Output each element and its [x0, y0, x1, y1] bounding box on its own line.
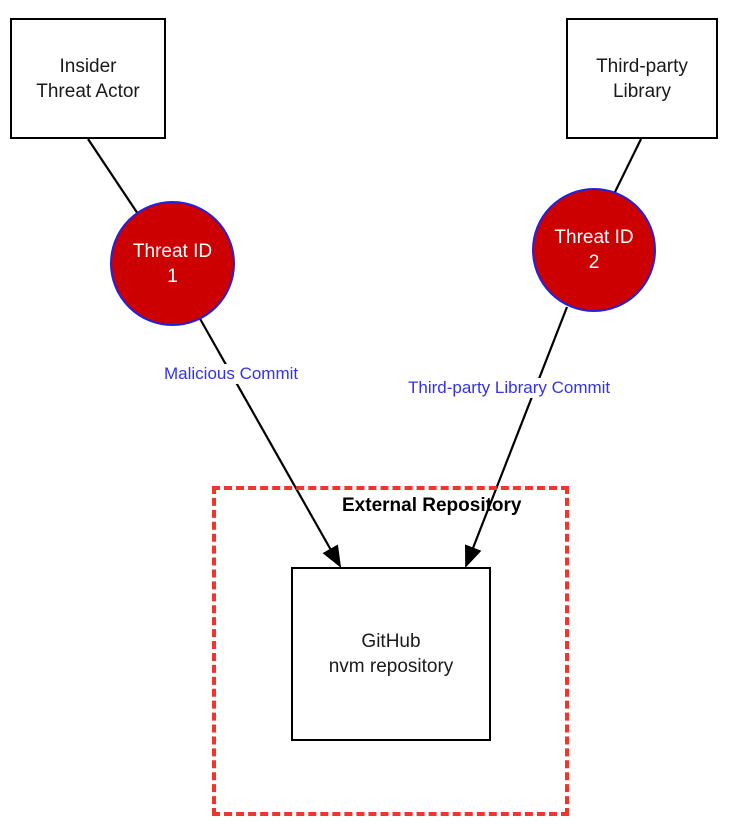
node-threat-id-2-label: Threat ID 2 — [554, 225, 633, 275]
node-insider-threat-actor[interactable]: Insider Threat Actor — [10, 18, 166, 139]
edge-label-third-party-library-commit: Third-party Library Commit — [406, 378, 612, 398]
edge-thirdparty-to-threat2 — [614, 139, 641, 194]
diagram-canvas: External Repository Insider Threat Actor… — [0, 0, 733, 830]
node-github-nvm-repository-label: GitHub nvm repository — [329, 629, 454, 679]
node-threat-id-1[interactable]: Threat ID 1 — [110, 201, 235, 326]
node-threat-id-1-label: Threat ID 1 — [133, 239, 212, 289]
edge-insider-to-threat1 — [88, 139, 140, 217]
node-insider-threat-actor-label: Insider Threat Actor — [36, 54, 140, 104]
node-third-party-library[interactable]: Third-party Library — [566, 18, 718, 139]
node-github-nvm-repository[interactable]: GitHub nvm repository — [291, 567, 491, 741]
edge-label-malicious-commit: Malicious Commit — [162, 364, 300, 384]
node-third-party-library-label: Third-party Library — [596, 54, 688, 104]
external-repository-group-title: External Repository — [342, 495, 522, 517]
node-threat-id-2[interactable]: Threat ID 2 — [532, 188, 656, 312]
